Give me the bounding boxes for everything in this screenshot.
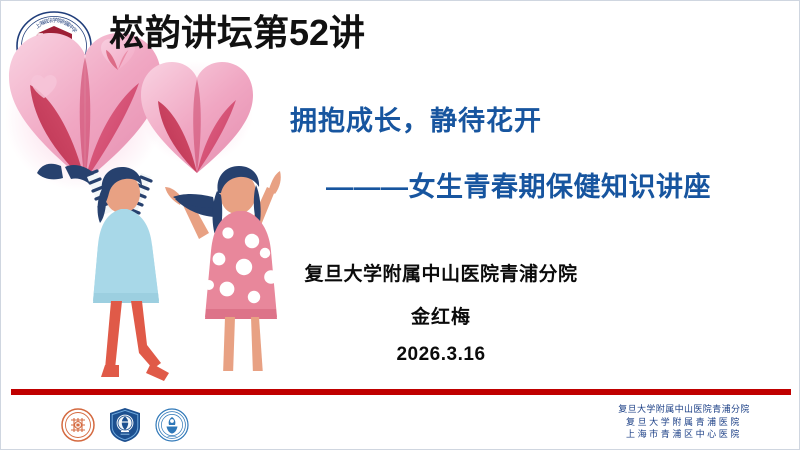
footer-hospital-names: 复旦大学附属中山医院青浦分院 复旦大学附属青浦医院 上海市青浦区中心医院 [579,403,789,441]
qingpu-central-hospital-seal-icon [155,408,189,442]
footer-divider [11,389,791,395]
svg-text:上: 上 [38,36,55,55]
heart-icon-small-2 [31,75,57,104]
footer-line-2: 复旦大学附属青浦医院 [579,416,789,429]
footer-logo-group [61,407,189,443]
presenter-name: 金红梅 [241,302,641,329]
songjiang-school-emblem: 上 海 政 法 学 院 附 属 中 学 上 政 [13,9,95,83]
fudan-university-seal-icon [61,408,95,442]
organization-name: 复旦大学附属中山医院青浦分院 [241,259,641,286]
page-title: 崧韵讲坛第52讲 [109,14,365,52]
headline-primary: 拥抱成长，静待花开 [1,99,800,138]
footer-line-3: 上海市青浦区中心医院 [579,428,789,441]
presentation-slide: 上 海 政 法 学 院 附 属 中 学 上 政 [0,0,800,450]
zhongshan-hospital-shield-icon [109,407,141,443]
headline-secondary: ———女生青春期保健知识讲座 [1,165,800,204]
credits-block: 复旦大学附属中山医院青浦分院 金红梅 2026.3.16 [241,259,641,366]
footer-line-1: 复旦大学附属中山医院青浦分院 [579,403,789,416]
presentation-date: 2026.3.16 [241,344,641,366]
svg-text:政: 政 [55,37,71,55]
